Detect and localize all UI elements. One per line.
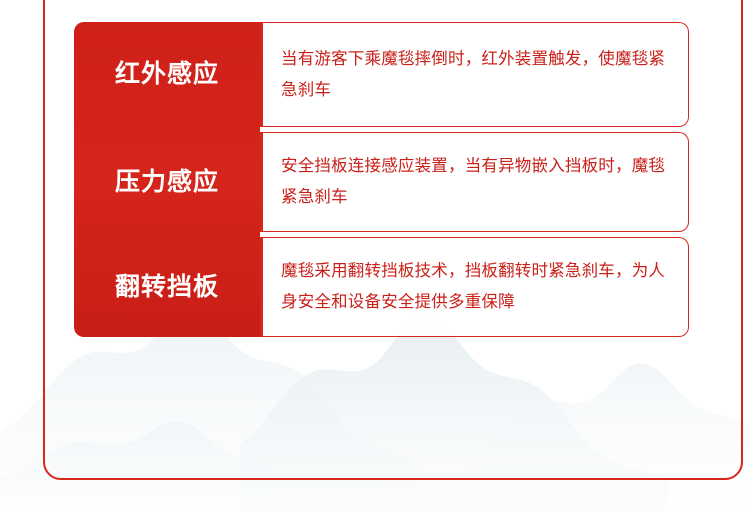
feature-text-flip-baffle: 魔毯采用翻转挡板技术，挡板翻转时紧急刹车，为人身安全和设备安全提供多重保障 bbox=[281, 256, 672, 318]
feature-description-box-pressure: 安全挡板连接感应装置，当有异物嵌入挡板时，魔毯紧急刹车 bbox=[260, 132, 689, 232]
feature-label-flip-baffle: 翻转挡板 bbox=[74, 237, 260, 337]
feature-row-infrared: 红外感应 当有游客下乘魔毯摔倒时，红外装置触发，使魔毯紧急刹车 bbox=[74, 22, 689, 127]
feature-description-box-infrared: 当有游客下乘魔毯摔倒时，红外装置触发，使魔毯紧急刹车 bbox=[260, 22, 689, 127]
feature-label-pressure: 压力感应 bbox=[74, 132, 260, 232]
feature-text-pressure: 安全挡板连接感应装置，当有异物嵌入挡板时，魔毯紧急刹车 bbox=[281, 151, 672, 213]
feature-text-infrared: 当有游客下乘魔毯摔倒时，红外装置触发，使魔毯紧急刹车 bbox=[281, 44, 672, 106]
feature-description-box-flip-baffle: 魔毯采用翻转挡板技术，挡板翻转时紧急刹车，为人身安全和设备安全提供多重保障 bbox=[260, 237, 689, 337]
feature-label-infrared: 红外感应 bbox=[74, 22, 260, 127]
promo-page: 红外感应 当有游客下乘魔毯摔倒时，红外装置触发，使魔毯紧急刹车 压力感应 安全挡… bbox=[0, 0, 750, 512]
feature-row-flip-baffle: 翻转挡板 魔毯采用翻转挡板技术，挡板翻转时紧急刹车，为人身安全和设备安全提供多重… bbox=[74, 237, 689, 337]
feature-rows: 红外感应 当有游客下乘魔毯摔倒时，红外装置触发，使魔毯紧急刹车 压力感应 安全挡… bbox=[74, 22, 689, 337]
feature-row-pressure: 压力感应 安全挡板连接感应装置，当有异物嵌入挡板时，魔毯紧急刹车 bbox=[74, 132, 689, 232]
feature-table: 红外感应 当有游客下乘魔毯摔倒时，红外装置触发，使魔毯紧急刹车 压力感应 安全挡… bbox=[74, 22, 689, 337]
